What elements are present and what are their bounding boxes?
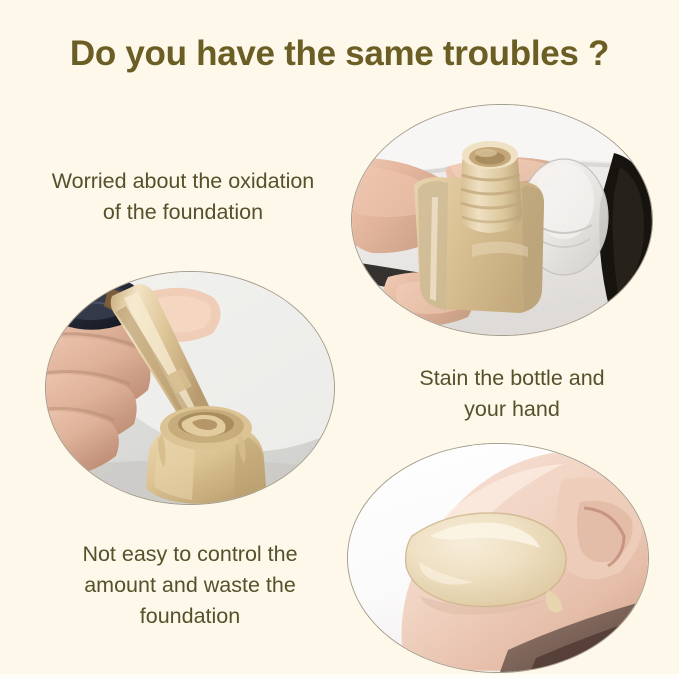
caption-oxidation-line1: Worried about the oxidation <box>8 166 358 197</box>
page-title: Do you have the same troubles ? <box>0 34 679 74</box>
photo-dropper-dripping-foundation <box>46 272 334 504</box>
hand-blob-illustration <box>348 444 648 672</box>
caption-stain: Stain the bottle and your hand <box>352 363 672 425</box>
caption-waste-line2: amount and waste the <box>20 570 360 601</box>
bottle-open-illustration <box>352 105 652 335</box>
photo-hand-holding-open-foundation-bottle <box>352 105 652 335</box>
caption-waste-line1: Not easy to control the <box>20 539 360 570</box>
caption-waste-line3: foundation <box>20 601 360 632</box>
photo-foundation-blob-on-hand <box>348 444 648 672</box>
caption-oxidation-line2: of the foundation <box>8 197 358 228</box>
promo-poster: Do you have the same troubles ? <box>0 0 679 679</box>
caption-stain-line1: Stain the bottle and <box>352 363 672 394</box>
caption-oxidation: Worried about the oxidation of the found… <box>8 166 358 228</box>
dropper-illustration <box>46 272 334 504</box>
caption-waste: Not easy to control the amount and waste… <box>20 539 360 633</box>
caption-stain-line2: your hand <box>352 394 672 425</box>
bottom-edge-strip <box>0 674 679 679</box>
